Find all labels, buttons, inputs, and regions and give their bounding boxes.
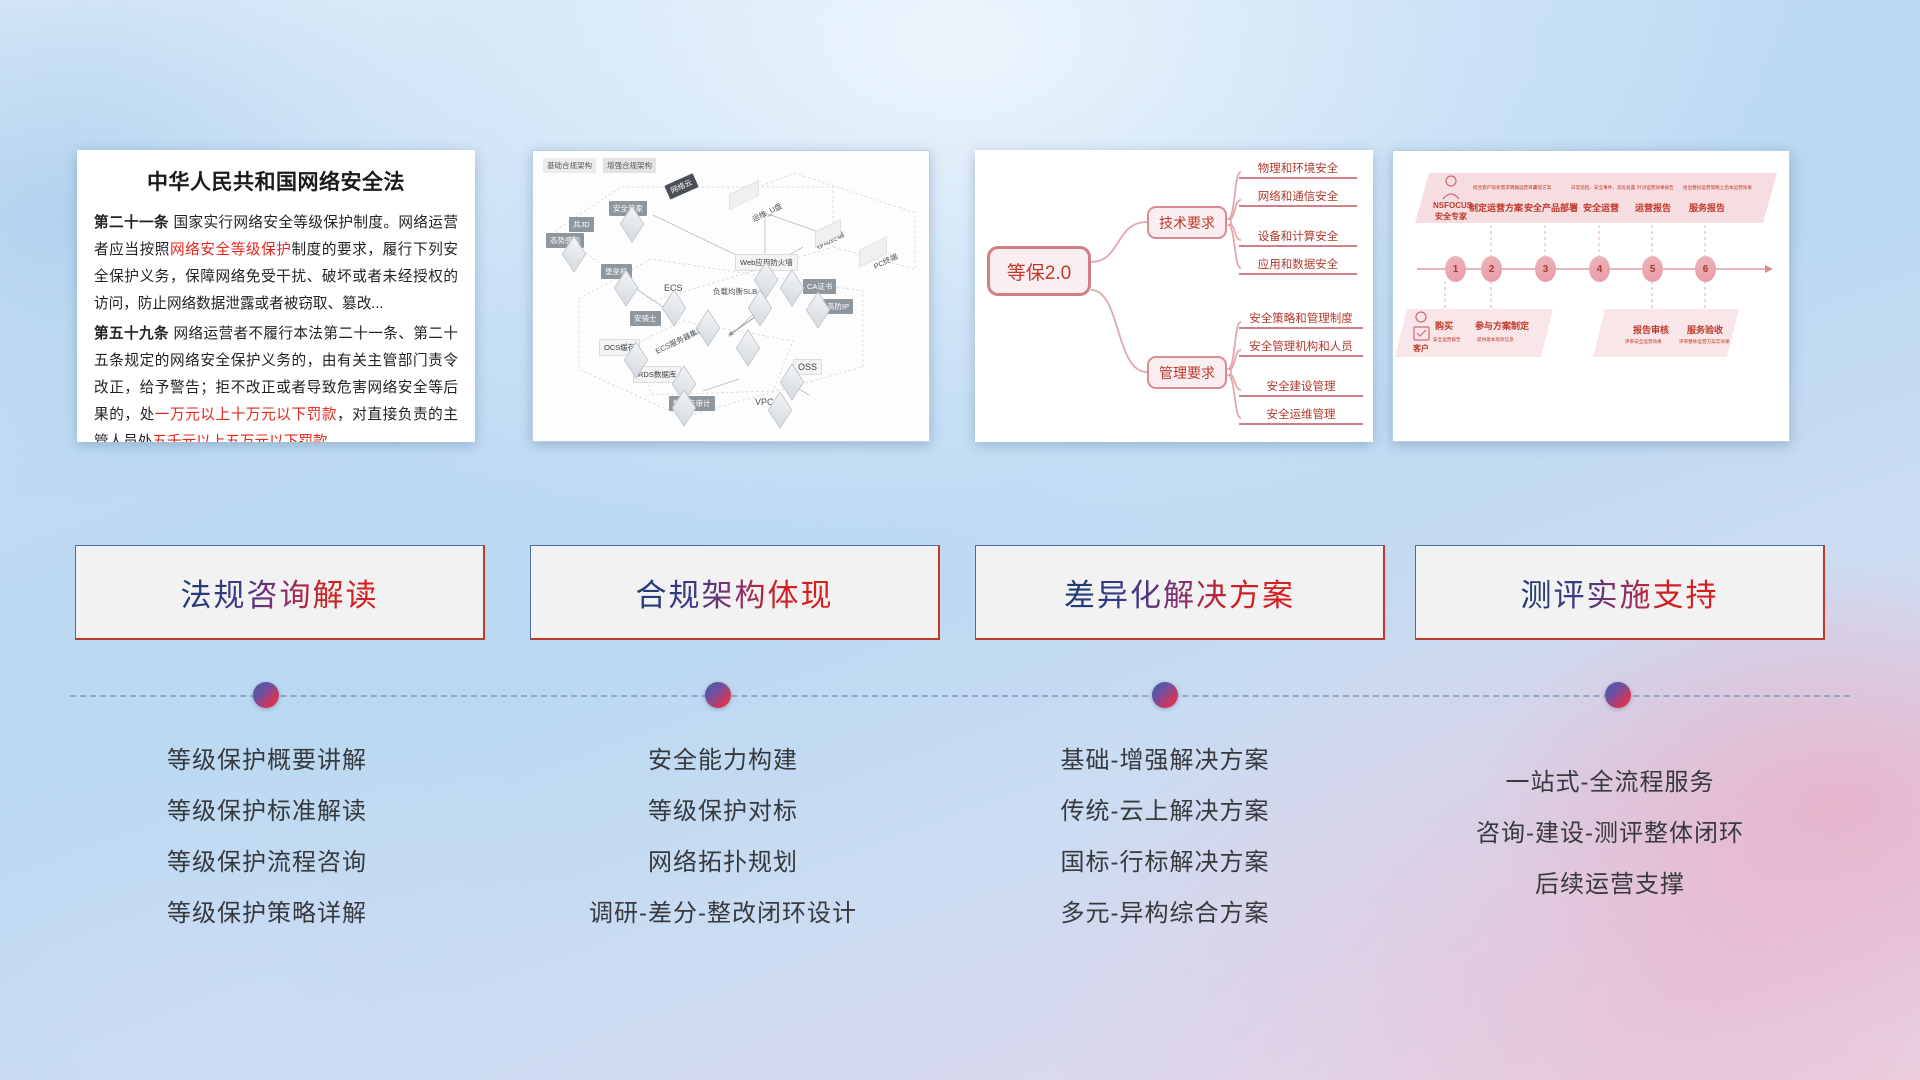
article-59-highlight-2: 五千元以上五万元以下罚款。: [152, 434, 342, 442]
detail-item: 咨询-建设-测评整体闭环: [1395, 808, 1825, 859]
mindmap-branch-technical: 技术要求: [1147, 206, 1227, 239]
detail-item: 安全能力构建: [508, 735, 938, 786]
roadmap-top-title-3: 安全运营: [1583, 201, 1619, 214]
label-box-compliance-architecture[interactable]: 合规架构体现: [530, 545, 940, 640]
detail-column-3: 基础-增强解决方案 传统-云上解决方案 国标-行标解决方案 多元-异构综合方案: [950, 735, 1380, 939]
roadmap-brand-sub: 安全专家: [1435, 211, 1467, 222]
detail-item: 等级保护对标: [508, 786, 938, 837]
arch-node-gong-jd: 共JD: [569, 217, 594, 232]
label-box-row: 法规咨询解读 合规架构体现 差异化解决方案 测评实施支持: [0, 545, 1920, 645]
law-title: 中华人民共和国网络安全法: [94, 166, 458, 196]
article-59-label: 第五十九条: [94, 326, 169, 342]
timeline-dot-1[interactable]: [253, 682, 279, 708]
detail-column-2: 安全能力构建 等级保护对标 网络拓扑规划 调研-差分-整改闭环设计: [508, 735, 938, 939]
roadmap-top-sub-5: 给出整份运营策略之后本运营效果: [1683, 185, 1752, 191]
mindmap-branch-management: 管理要求: [1147, 356, 1227, 389]
roadmap-step-number-2: 2: [1481, 256, 1502, 282]
detail-item: 后续运营支撑: [1395, 859, 1825, 910]
roadmap-top-sub-3: 日常巡检、安全事件、高危处置: [1571, 185, 1635, 191]
roadmap-bottom-title-4: 服务验收: [1687, 323, 1723, 336]
roadmap-step-number-6: 6: [1695, 256, 1716, 282]
card-service-roadmap[interactable]: NSFOCUS 安全专家 客户 结合客户现状需求明确运营目录 制定运营方案 实现…: [1392, 150, 1790, 442]
roadmap-shapes: [1393, 151, 1789, 441]
timeline-dashed-line: [70, 695, 1850, 697]
roadmap-bottom-sub-4: 评审整体运营方案实效果: [1679, 339, 1730, 345]
label-box-regulatory-consulting[interactable]: 法规咨询解读: [75, 545, 485, 640]
card-cloud-architecture[interactable]: 基础合规架构 增强合规架构: [532, 150, 930, 442]
mindmap-leaf-ops-mgmt: 安全运维管理: [1239, 406, 1363, 425]
timeline: [0, 660, 1920, 720]
detail-column-1: 等级保护概要讲解 等级保护标准解读 等级保护流程咨询 等级保护策略详解: [52, 735, 482, 939]
mindmap-leaf-security-policy: 安全策略和管理制度: [1239, 310, 1363, 329]
detail-list-row: 等级保护概要讲解 等级保护标准解读 等级保护流程咨询 等级保护策略详解 安全能力…: [0, 735, 1920, 965]
label-box-assessment-support[interactable]: 测评实施支持: [1415, 545, 1825, 640]
roadmap-top-sub-1: 结合客户现状需求明确运营目录: [1473, 185, 1537, 191]
roadmap-step-number-4: 4: [1589, 256, 1610, 282]
architecture-diagram: 基础合规架构 增强合规架构: [533, 151, 929, 441]
mindmap-leaf-app-data: 应用和数据安全: [1239, 256, 1357, 275]
arch-node-slb: 负载均衡SLB: [713, 286, 757, 297]
mindmap-diagram: 等保2.0 技术要求 管理要求 物理和环境安全 网络和通信安全 设备和计算安全 …: [975, 150, 1373, 442]
label-text-3: 差异化解决方案: [1064, 570, 1295, 615]
mindmap-leaf-physical-env: 物理和环境安全: [1239, 160, 1357, 179]
arch-node-ca-certificate: CA证书: [803, 279, 836, 294]
arch-node-anqishi: 安骑士: [630, 311, 661, 326]
law-article-21: 第二十一条 国家实行网络安全等级保护制度。网络运营者应当按照网络安全等级保护制度…: [94, 210, 458, 318]
roadmap-bottom-title-2: 参与方案制定: [1475, 319, 1529, 332]
roadmap-step-number-1: 1: [1445, 256, 1466, 282]
roadmap-top-sub-2: 实现方案: [1533, 185, 1551, 191]
detail-item: 国标-行标解决方案: [950, 837, 1380, 888]
roadmap-top-title-2: 安全产品部署: [1524, 201, 1578, 214]
roadmap-bottom-title-1: 购买: [1435, 319, 1453, 332]
image-card-row: 中华人民共和国网络安全法 第二十一条 国家实行网络安全等级保护制度。网络运营者应…: [0, 150, 1920, 450]
roadmap-step-number-5: 5: [1642, 256, 1663, 282]
article-59-highlight-1: 一万元以上十万元以下罚款: [155, 407, 337, 423]
roadmap-customer-label: 客户: [1413, 343, 1429, 354]
law-article-59: 第五十九条 网络运营者不履行本法第二十一条、第二十五条规定的网络安全保护义务的，…: [94, 321, 458, 442]
detail-item: 等级保护标准解读: [52, 786, 482, 837]
timeline-dot-2[interactable]: [705, 682, 731, 708]
roadmap-bottom-title-3: 报告审核: [1633, 323, 1669, 336]
roadmap-bottom-sub-1: 安全运营报告: [1433, 337, 1461, 343]
article-21-label: 第二十一条: [94, 215, 169, 231]
roadmap-bottom-sub-2: 提供基本现状信息: [1477, 337, 1514, 343]
mindmap-leaf-security-org: 安全管理机构和人员: [1239, 338, 1363, 357]
detail-item: 等级保护流程咨询: [52, 837, 482, 888]
roadmap-top-title-5: 服务报告: [1689, 201, 1725, 214]
card-cybersecurity-law[interactable]: 中华人民共和国网络安全法 第二十一条 国家实行网络安全等级保护制度。网络运营者应…: [77, 150, 475, 442]
mindmap-root-node: 等保2.0: [987, 246, 1091, 296]
mindmap-leaf-device-compute: 设备和计算安全: [1239, 228, 1357, 247]
law-text-block: 中华人民共和国网络安全法 第二十一条 国家实行网络安全等级保护制度。网络运营者应…: [77, 150, 475, 442]
slide-root: 中华人民共和国网络安全法 第二十一条 国家实行网络安全等级保护制度。网络运营者应…: [0, 0, 1920, 1080]
detail-item: 网络拓扑规划: [508, 837, 938, 888]
detail-item: 等级保护策略详解: [52, 888, 482, 939]
article-21-highlight: 网络安全等级保护: [170, 242, 292, 258]
label-text-2: 合规架构体现: [636, 570, 834, 615]
timeline-dot-3[interactable]: [1152, 682, 1178, 708]
label-box-differentiated-solution[interactable]: 差异化解决方案: [975, 545, 1385, 640]
detail-item: 多元-异构综合方案: [950, 888, 1380, 939]
label-text-4: 测评实施支持: [1521, 570, 1719, 615]
detail-item: 传统-云上解决方案: [950, 786, 1380, 837]
roadmap-step-number-3: 3: [1535, 256, 1556, 282]
roadmap-diagram: NSFOCUS 安全专家 客户 结合客户现状需求明确运营目录 制定运营方案 实现…: [1393, 151, 1789, 441]
detail-column-4: 一站式-全流程服务 咨询-建设-测评整体闭环 后续运营支撑: [1395, 757, 1825, 910]
detail-item: 等级保护概要讲解: [52, 735, 482, 786]
detail-item: 基础-增强解决方案: [950, 735, 1380, 786]
timeline-dot-4[interactable]: [1605, 682, 1631, 708]
card-dengbao-mindmap[interactable]: 等保2.0 技术要求 管理要求 物理和环境安全 网络和通信安全 设备和计算安全 …: [975, 150, 1373, 442]
mindmap-leaf-network-comm: 网络和通信安全: [1239, 188, 1357, 207]
roadmap-top-title-1: 制定运营方案: [1469, 201, 1523, 214]
mindmap-leaf-construction-mgmt: 安全建设管理: [1239, 378, 1363, 397]
label-text-1: 法规咨询解读: [181, 570, 379, 615]
detail-item: 一站式-全流程服务: [1395, 757, 1825, 808]
roadmap-brand: NSFOCUS: [1433, 201, 1472, 210]
roadmap-top-title-4: 运营报告: [1635, 201, 1671, 214]
roadmap-top-sub-4: 针对运营效果报告: [1637, 185, 1674, 191]
roadmap-bottom-sub-3: 评审安全运营效果: [1625, 339, 1662, 345]
detail-item: 调研-差分-整改闭环设计: [508, 888, 938, 939]
